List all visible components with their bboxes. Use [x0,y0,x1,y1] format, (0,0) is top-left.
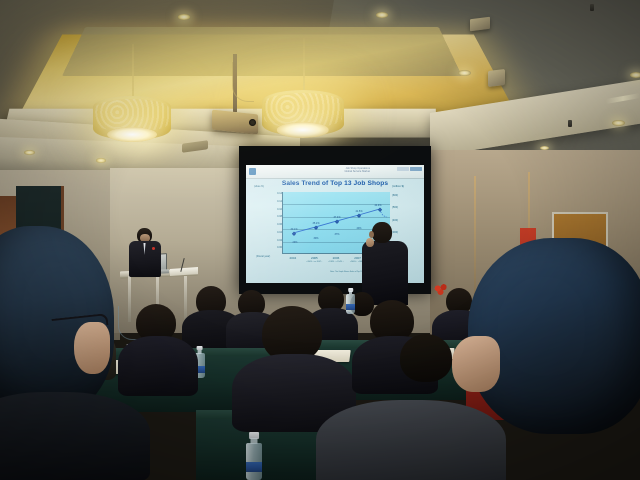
slide-tab-strip [397,167,423,171]
data-point-label: 30.1% [290,228,297,231]
y-tick: 0.06 [260,221,282,229]
chart-left-axis-caption: (share %) [254,186,264,188]
y-tick: 0.00 [260,244,282,252]
downlight-icon [178,14,190,20]
ceiling-coffer-inner [62,27,462,76]
x-tick: 2005 [304,256,326,260]
ceiling-speaker [470,17,490,31]
lamp-shade [93,96,171,140]
y-tick: 0.04 [260,229,282,237]
bottle-label [246,462,262,472]
downlight-icon [458,70,471,76]
pendant-lamp [93,96,171,140]
foreground-audience-shoulders [316,400,506,480]
secondary-point-label: 37% [334,233,339,236]
slide-header-line2: Global Service Market [304,170,370,173]
slide-header-bar: Job Shop Operations Global Service Marke… [246,165,424,178]
slide-tab-home [397,167,409,171]
lamp-glow [277,122,329,138]
y-tick: 0.02 [260,237,282,245]
water-bottle [346,288,355,314]
data-point-label: 41.5% [355,210,362,213]
conference-room-photo: Job Shop Operations Global Service Marke… [0,0,640,480]
y-tick-right: (600) [392,190,418,202]
foreground-ear-left [74,322,110,374]
podium-speaker [128,228,162,276]
y-tick: 0.12 [260,198,282,206]
lamp-cord [303,38,305,90]
slide-logo-icon [249,168,256,175]
wall-panel-seam [474,176,476,306]
y-tick: 0.14 [260,190,282,198]
audience-shoulders [118,336,198,396]
sprinkler-icon [590,4,594,11]
ceiling-speaker [488,69,505,87]
bottle-body [246,443,262,480]
downlight-icon [24,150,35,155]
chart-y-axis-left-ticks: 0.14 0.12 0.10 0.08 0.06 0.04 0.02 0.00 [260,190,282,252]
downlight-icon [612,120,625,126]
data-point-label: 35.2% [312,222,319,225]
x-tick: 2004 [282,256,304,260]
x-note [282,261,304,263]
x-note: +198% ↑ +154% ↑ [325,261,347,263]
chart-x-axis-caption: (Fiscal year) [256,255,270,258]
secondary-point-label: 30% [313,237,318,240]
x-note: +200% ↑ vs 2007 ↑ [304,261,326,263]
audience-head [400,334,452,382]
secondary-point-label: 40% [356,227,361,230]
presenter-hand-with-microphone [366,238,374,247]
chart-unit-label: (million $) [392,184,404,188]
pendant-lamp [262,90,344,136]
slide-header-rule [246,178,424,179]
water-bottle [246,432,262,480]
slide-header-text: Job Shop Operations Global Service Marke… [304,167,370,174]
data-point-label: 44.9% [374,204,381,207]
foreground-head-right [468,238,640,434]
downlight-icon [630,72,640,78]
presenter-ear [369,231,374,238]
foreground-shoulders-left [0,392,150,480]
foreground-ear-right [452,336,500,392]
standing-presenter [362,222,408,304]
sprinkler-icon [568,120,572,127]
lectern-leg [184,276,187,320]
presenter-head [372,222,392,243]
data-point-label: 37.4% [333,216,340,219]
y-tick-right: (500) [392,202,418,214]
y-tick: 0.08 [260,213,282,221]
y-tick: 0.10 [260,206,282,214]
slide-tab-market-data [410,167,422,171]
ceiling-projector [212,112,258,132]
lamp-glow [107,127,157,142]
projector-cable [232,62,254,102]
secondary-point-label: 29% [292,241,297,244]
bottle-body [346,294,355,314]
lamp-cord [132,44,134,96]
speaker-lapel-badge [152,247,155,250]
downlight-icon [96,158,106,163]
lamp-shade [262,90,344,136]
bottle-label [346,304,355,309]
downlight-icon [376,12,388,18]
x-tick: 2006 [325,256,347,260]
